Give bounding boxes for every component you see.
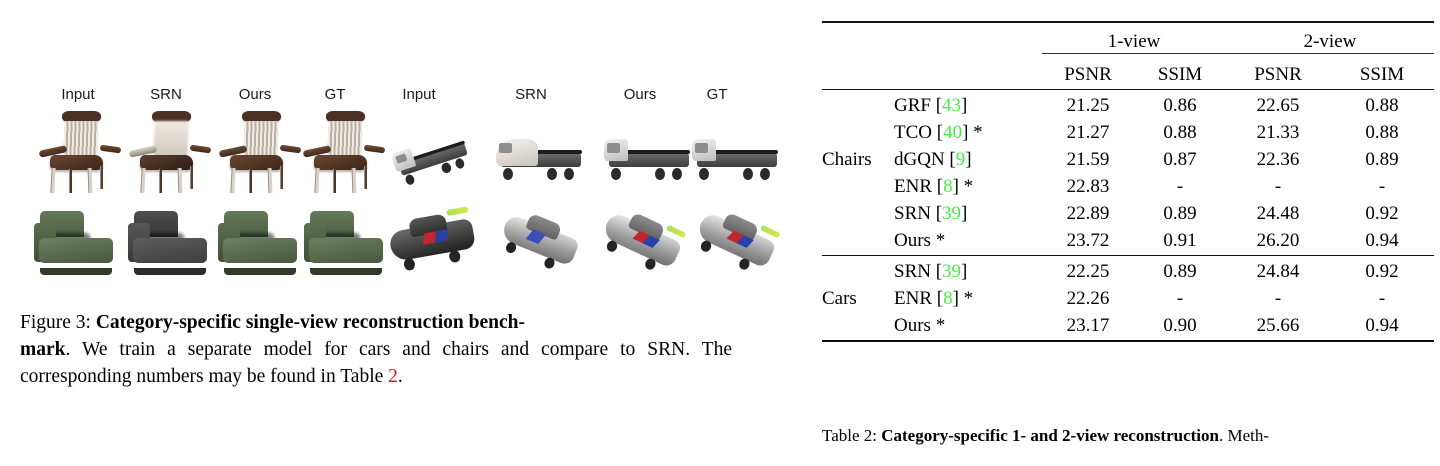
method-label-ours: Ours * xyxy=(894,225,1042,252)
method-label-ours-cars: Ours * xyxy=(894,310,1042,337)
image-truck-srn xyxy=(492,108,588,194)
cell-ssim-2view: 0.92 xyxy=(1330,256,1434,284)
table-caption-prefix: Table 2: xyxy=(822,426,881,445)
group-header-2-view: 2-view xyxy=(1226,22,1434,54)
figure-caption-bold-cont: mark xyxy=(20,339,66,360)
cell-ssim-1view: 0.88 xyxy=(1134,117,1226,144)
figure-caption-rest-1: . We train a separate model for cars and… xyxy=(66,339,609,360)
citation-ref[interactable]: 8 xyxy=(943,288,953,309)
method-label-srn: SRN [39] xyxy=(894,198,1042,225)
cell-ssim-1view: 0.91 xyxy=(1134,225,1226,252)
table-caption-bold: Category-specific 1- and 2-view reconstr… xyxy=(881,426,1219,445)
table-sub-header-row: PSNR SSIM PSNR SSIM xyxy=(822,54,1434,87)
cell-ssim-2view: - xyxy=(1330,283,1434,310)
citation-ref[interactable]: 8 xyxy=(943,176,953,197)
cell-psnr-2view: 25.66 xyxy=(1226,310,1330,337)
column-label-gt-chairs: GT xyxy=(325,86,346,103)
cell-ssim-1view: - xyxy=(1134,283,1226,310)
cell-psnr-1view: 22.89 xyxy=(1042,198,1134,225)
cell-ssim-2view: 0.94 xyxy=(1330,310,1434,337)
table-row: SRN [39] 22.25 0.89 24.84 0.92 xyxy=(822,256,1434,284)
column-label-ours-cars: Ours xyxy=(624,86,657,103)
group-header-1-view: 1-view xyxy=(1042,22,1226,54)
method-label-srn-cars: SRN [39] xyxy=(894,256,1042,284)
cell-psnr-1view: 22.25 xyxy=(1042,256,1134,284)
figure-image-grid xyxy=(0,108,790,280)
cell-ssim-2view: 0.94 xyxy=(1330,225,1434,252)
cell-psnr-2view: - xyxy=(1226,171,1330,198)
cell-psnr-2view: 24.48 xyxy=(1226,198,1330,225)
table-caption: Table 2: Category-specific 1- and 2-view… xyxy=(822,424,1438,447)
cell-psnr-2view: - xyxy=(1226,283,1330,310)
category-label-chairs: Chairs xyxy=(822,144,894,171)
cell-ssim-1view: 0.86 xyxy=(1134,90,1226,118)
subheader-ssim-1view: SSIM xyxy=(1134,54,1226,87)
method-label-enr-cars: ENR [8] * xyxy=(894,283,1042,310)
cell-psnr-1view: 21.25 xyxy=(1042,90,1134,118)
figure-caption-prefix: Figure 3: xyxy=(20,312,96,333)
column-label-ours-chairs: Ours xyxy=(239,86,272,103)
subheader-psnr-2view: PSNR xyxy=(1226,54,1330,87)
citation-ref[interactable]: 43 xyxy=(942,95,961,116)
image-chair-gt xyxy=(300,108,386,194)
citation-ref[interactable]: 39 xyxy=(942,261,961,282)
citation-ref[interactable]: 9 xyxy=(956,149,966,170)
table-row: SRN [39] 22.89 0.89 24.48 0.92 xyxy=(822,198,1434,225)
image-chair-input xyxy=(36,108,122,194)
subheader-psnr-1view: PSNR xyxy=(1042,54,1134,87)
cell-psnr-2view: 24.84 xyxy=(1226,256,1330,284)
column-label-input-cars: Input xyxy=(402,86,435,103)
cell-ssim-2view: - xyxy=(1330,171,1434,198)
figure-caption-table-ref[interactable]: 2 xyxy=(388,366,398,387)
image-policecar-srn xyxy=(492,194,588,280)
cell-psnr-1view: 23.17 xyxy=(1042,310,1134,337)
cell-ssim-2view: 0.88 xyxy=(1330,117,1434,144)
image-chair-ours xyxy=(216,108,302,194)
image-armchair-gt xyxy=(300,194,392,280)
cell-psnr-2view: 21.33 xyxy=(1226,117,1330,144)
cell-ssim-1view: 0.89 xyxy=(1134,198,1226,225)
image-armchair-ours xyxy=(214,194,306,280)
table-bottomrule xyxy=(822,337,1434,341)
results-table: 1-view 2-view PSNR SSIM PSNR SSIM GRF [4… xyxy=(822,18,1434,342)
citation-ref[interactable]: 40 xyxy=(943,122,962,143)
image-truck-input xyxy=(384,108,480,194)
cell-psnr-1view: 22.83 xyxy=(1042,171,1134,198)
column-label-srn-cars: SRN xyxy=(515,86,547,103)
cell-psnr-1view: 21.59 xyxy=(1042,144,1134,171)
figure-caption-end: . xyxy=(398,366,403,387)
method-label-grf: GRF [43] xyxy=(894,90,1042,118)
cell-ssim-1view: 0.87 xyxy=(1134,144,1226,171)
figure-caption-bold: Category-specific single-view reconstruc… xyxy=(96,312,525,333)
image-armchair-srn xyxy=(124,194,216,280)
image-policecar-ours xyxy=(594,194,690,280)
cell-psnr-2view: 26.20 xyxy=(1226,225,1330,252)
table-caption-rest: . Meth- xyxy=(1219,426,1269,445)
cell-psnr-1view: 22.26 xyxy=(1042,283,1134,310)
image-truck-ours xyxy=(600,108,696,194)
figure-column-labels: Input SRN Ours GT Input SRN Ours GT xyxy=(0,86,790,108)
table-row: Chairs dGQN [9] 21.59 0.87 22.36 0.89 xyxy=(822,144,1434,171)
cell-psnr-1view: 23.72 xyxy=(1042,225,1134,252)
cell-psnr-2view: 22.36 xyxy=(1226,144,1330,171)
cell-ssim-2view: 0.92 xyxy=(1330,198,1434,225)
column-label-gt-cars: GT xyxy=(707,86,728,103)
image-policecar-input xyxy=(384,194,480,280)
method-label-tco: TCO [40] * xyxy=(894,117,1042,144)
image-armchair-input xyxy=(30,194,122,280)
cell-psnr-2view: 22.65 xyxy=(1226,90,1330,118)
table-row: TCO [40] * 21.27 0.88 21.33 0.88 xyxy=(822,117,1434,144)
category-label-cars: Cars xyxy=(822,283,894,310)
figure-panel: Input SRN Ours GT Input SRN Ours GT xyxy=(0,0,790,466)
method-label-dgqn: dGQN [9] xyxy=(894,144,1042,171)
column-label-input-chairs: Input xyxy=(61,86,94,103)
image-chair-srn xyxy=(126,108,212,194)
subheader-ssim-2view: SSIM xyxy=(1330,54,1434,87)
method-label-enr: ENR [8] * xyxy=(894,171,1042,198)
cell-ssim-2view: 0.88 xyxy=(1330,90,1434,118)
citation-ref[interactable]: 39 xyxy=(942,203,961,224)
table-row: GRF [43] 21.25 0.86 22.65 0.88 xyxy=(822,90,1434,118)
table-panel: 1-view 2-view PSNR SSIM PSNR SSIM GRF [4… xyxy=(806,0,1440,466)
table-row: ENR [8] * 22.83 - - - xyxy=(822,171,1434,198)
cell-ssim-1view: - xyxy=(1134,171,1226,198)
table-group-header-row: 1-view 2-view xyxy=(822,22,1434,54)
figure-caption: Figure 3: Category-specific single-view … xyxy=(20,309,732,390)
column-label-srn-chairs: SRN xyxy=(150,86,182,103)
cell-ssim-1view: 0.89 xyxy=(1134,256,1226,284)
image-policecar-gt xyxy=(688,194,784,280)
table-row: Ours * 23.72 0.91 26.20 0.94 xyxy=(822,225,1434,252)
cell-psnr-1view: 21.27 xyxy=(1042,117,1134,144)
cell-ssim-1view: 0.90 xyxy=(1134,310,1226,337)
image-truck-gt xyxy=(688,108,784,194)
table-row: Cars ENR [8] * 22.26 - - - xyxy=(822,283,1434,310)
cell-ssim-2view: 0.89 xyxy=(1330,144,1434,171)
table-row: Ours * 23.17 0.90 25.66 0.94 xyxy=(822,310,1434,337)
